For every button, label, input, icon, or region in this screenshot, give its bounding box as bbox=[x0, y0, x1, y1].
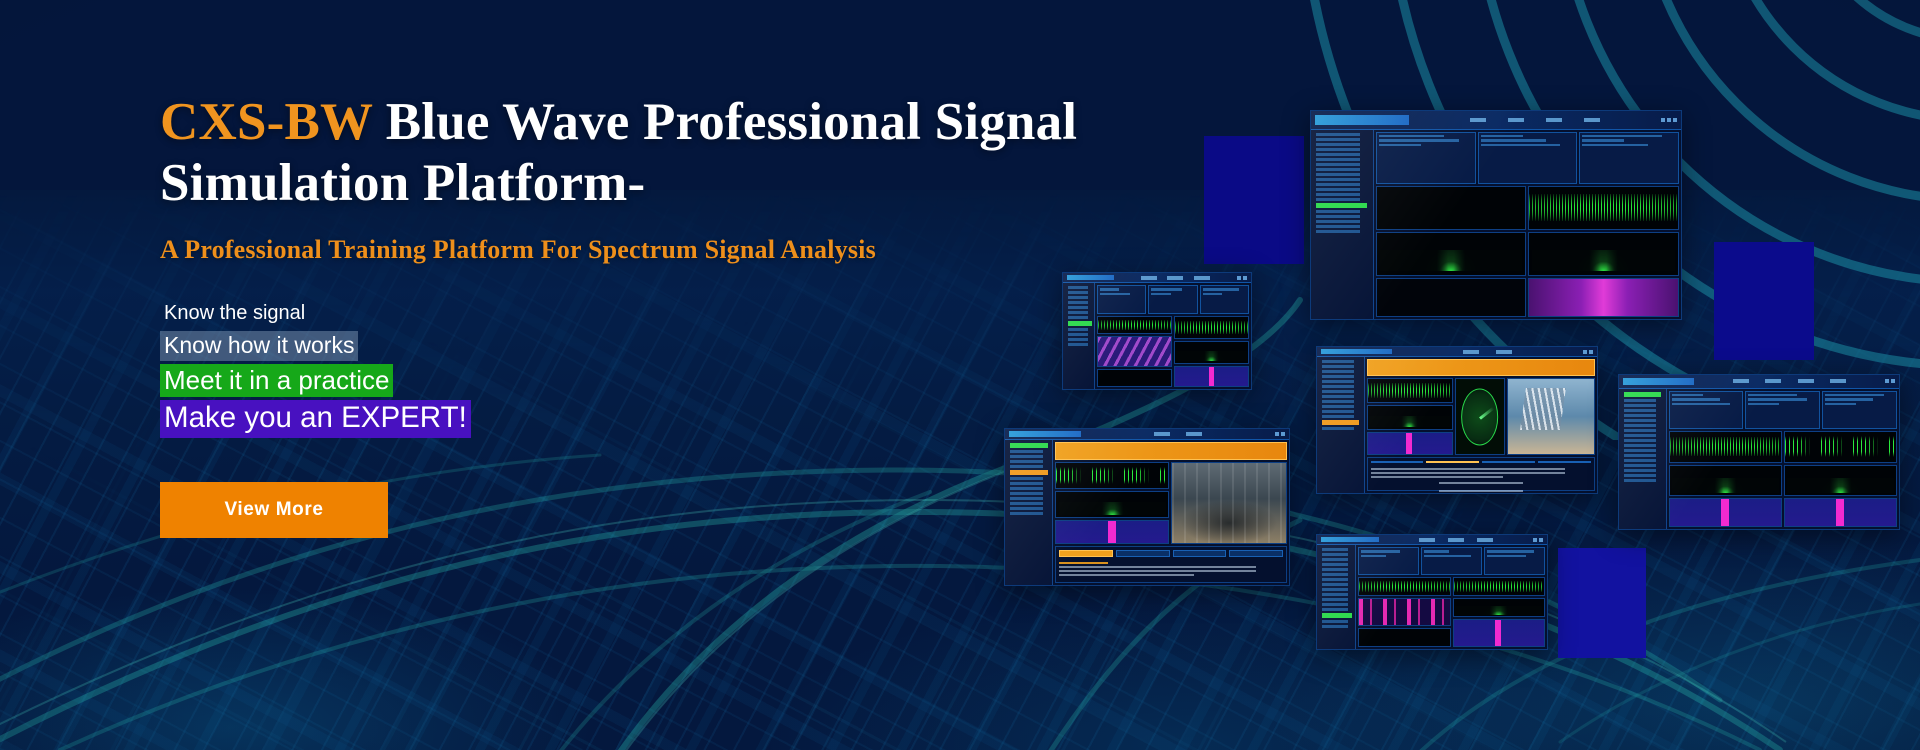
parameter-panel bbox=[1478, 132, 1578, 184]
screenshot-main-area bbox=[1374, 130, 1681, 319]
spectrum-plot bbox=[1367, 405, 1453, 430]
tagline-2: Know how it works bbox=[160, 331, 358, 361]
screenshot-sidebar-tree bbox=[1619, 389, 1667, 529]
page-title: CXS-BW Blue Wave Professional Signal Sim… bbox=[160, 92, 1220, 215]
chart-column-left bbox=[1367, 378, 1453, 454]
app-logo bbox=[1623, 378, 1694, 385]
window-controls bbox=[1661, 118, 1677, 122]
waterfall-plot bbox=[1376, 278, 1527, 317]
menu-strip bbox=[1383, 538, 1529, 542]
tagline-row-1: Know the signal bbox=[160, 301, 1260, 328]
chart-column-right bbox=[1453, 577, 1545, 647]
screenshot-titlebar bbox=[1311, 111, 1681, 130]
window-controls bbox=[1275, 432, 1285, 436]
screenshot-sidebar-tree bbox=[1317, 357, 1365, 493]
window-controls bbox=[1533, 538, 1543, 542]
explanation-text-panel bbox=[1367, 457, 1595, 491]
blue-magenta-spectrogram bbox=[1669, 498, 1782, 527]
menu-strip bbox=[1698, 379, 1881, 383]
screenshot-spectrum-analysis-main[interactable] bbox=[1310, 110, 1682, 320]
green-waveform-plot bbox=[1528, 186, 1679, 230]
tagline-4: Make you an EXPERT! bbox=[160, 400, 471, 438]
blue-magenta-spectrogram bbox=[1784, 498, 1897, 527]
menu-strip bbox=[1396, 350, 1579, 354]
green-waveform-plot bbox=[1453, 577, 1545, 596]
tagline-row-4: Make you an EXPERT! bbox=[160, 400, 1260, 438]
decorative-rectangle-3 bbox=[1558, 548, 1646, 658]
screenshot-main-area bbox=[1365, 357, 1597, 493]
tagline-row-2: Know how it works bbox=[160, 331, 1260, 361]
blue-magenta-spectrogram bbox=[1453, 619, 1545, 647]
app-logo bbox=[1321, 537, 1379, 542]
tagline-list: Know the signal Know how it works Meet i… bbox=[160, 301, 1260, 438]
screenshot-body bbox=[1311, 130, 1681, 319]
parameter-panels bbox=[1376, 132, 1679, 184]
chart-area bbox=[1669, 431, 1897, 527]
radar-antenna-photo bbox=[1507, 378, 1595, 454]
green-spectrum-plot bbox=[1528, 232, 1679, 276]
app-logo bbox=[1321, 349, 1392, 354]
green-waveform-plot bbox=[1669, 431, 1782, 463]
parameter-panel bbox=[1376, 132, 1476, 184]
screenshot-sidebar-tree bbox=[1311, 130, 1374, 319]
hero-banner: CXS-BW Blue Wave Professional Signal Sim… bbox=[0, 0, 1920, 750]
screenshot-pulse-signal-analysis[interactable] bbox=[1316, 534, 1548, 650]
parameter-panel bbox=[1822, 391, 1897, 429]
screenshot-multi-channel-spectrum[interactable] bbox=[1618, 374, 1900, 530]
tagline-1: Know the signal bbox=[160, 301, 309, 328]
screenshot-titlebar bbox=[1317, 347, 1597, 357]
spectrum-plot bbox=[1784, 465, 1897, 497]
hero-copy-block: CXS-BW Blue Wave Professional Signal Sim… bbox=[160, 92, 1260, 538]
green-waveform-plot bbox=[1367, 378, 1453, 403]
screenshot-body bbox=[1317, 357, 1597, 493]
view-more-button[interactable]: View More bbox=[160, 482, 388, 538]
orange-title-bar bbox=[1367, 359, 1595, 376]
am-waveform-plot bbox=[1784, 431, 1897, 463]
tagline-3: Meet it in a practice bbox=[160, 364, 393, 398]
window-controls bbox=[1885, 379, 1895, 383]
chart-area bbox=[1358, 577, 1545, 647]
screenshot-radar-signal-training[interactable] bbox=[1316, 346, 1598, 494]
screenshot-main-area bbox=[1356, 545, 1547, 649]
app-logo bbox=[1315, 115, 1409, 125]
decorative-rectangle-2 bbox=[1714, 242, 1814, 360]
tab-strip bbox=[1371, 461, 1591, 463]
parameter-panel bbox=[1421, 547, 1482, 575]
parameter-panels bbox=[1358, 547, 1545, 575]
explanation-text-panel bbox=[1055, 546, 1287, 583]
chart-column-left bbox=[1669, 431, 1782, 527]
parameter-panel bbox=[1669, 391, 1744, 429]
screenshot-main-area bbox=[1667, 389, 1899, 529]
spectrum-plot bbox=[1453, 598, 1545, 617]
bit-pattern-plot bbox=[1358, 628, 1450, 647]
magenta-spectrogram bbox=[1528, 278, 1679, 317]
green-waveform-plot bbox=[1358, 577, 1450, 596]
parameter-panel bbox=[1358, 547, 1419, 575]
menu-strip bbox=[1413, 118, 1657, 122]
chart-area bbox=[1367, 378, 1595, 454]
spectrum-plot bbox=[1669, 465, 1782, 497]
screenshot-body bbox=[1317, 545, 1547, 649]
parameter-panels bbox=[1669, 391, 1897, 429]
frequency-plot bbox=[1376, 232, 1527, 276]
screenshot-sidebar-tree bbox=[1317, 545, 1356, 649]
screenshot-titlebar bbox=[1317, 535, 1547, 545]
parameter-panel bbox=[1745, 391, 1820, 429]
paragraph-lines bbox=[1059, 560, 1283, 579]
paragraph-lines bbox=[1371, 466, 1591, 494]
radar-ppi-scope bbox=[1455, 378, 1505, 454]
window-controls bbox=[1583, 350, 1593, 354]
screenshot-body bbox=[1619, 389, 1899, 529]
parameter-panel bbox=[1484, 547, 1545, 575]
tagline-row-3: Meet it in a practice bbox=[160, 364, 1260, 398]
parameter-panel bbox=[1579, 132, 1679, 184]
chart-column-right bbox=[1528, 186, 1679, 317]
pink-stripe-spectrogram bbox=[1358, 598, 1450, 626]
chart-column-left bbox=[1376, 186, 1527, 317]
chart-area bbox=[1376, 186, 1679, 317]
time-domain-plot bbox=[1376, 186, 1527, 230]
brand-name: CXS-BW bbox=[160, 93, 372, 151]
blue-magenta-spectrogram bbox=[1367, 432, 1453, 455]
chart-column-right bbox=[1784, 431, 1897, 527]
page-subtitle: A Professional Training Platform For Spe… bbox=[160, 235, 1260, 265]
chart-column-left bbox=[1358, 577, 1450, 647]
tab-strip bbox=[1059, 550, 1283, 556]
screenshot-titlebar bbox=[1619, 375, 1899, 389]
